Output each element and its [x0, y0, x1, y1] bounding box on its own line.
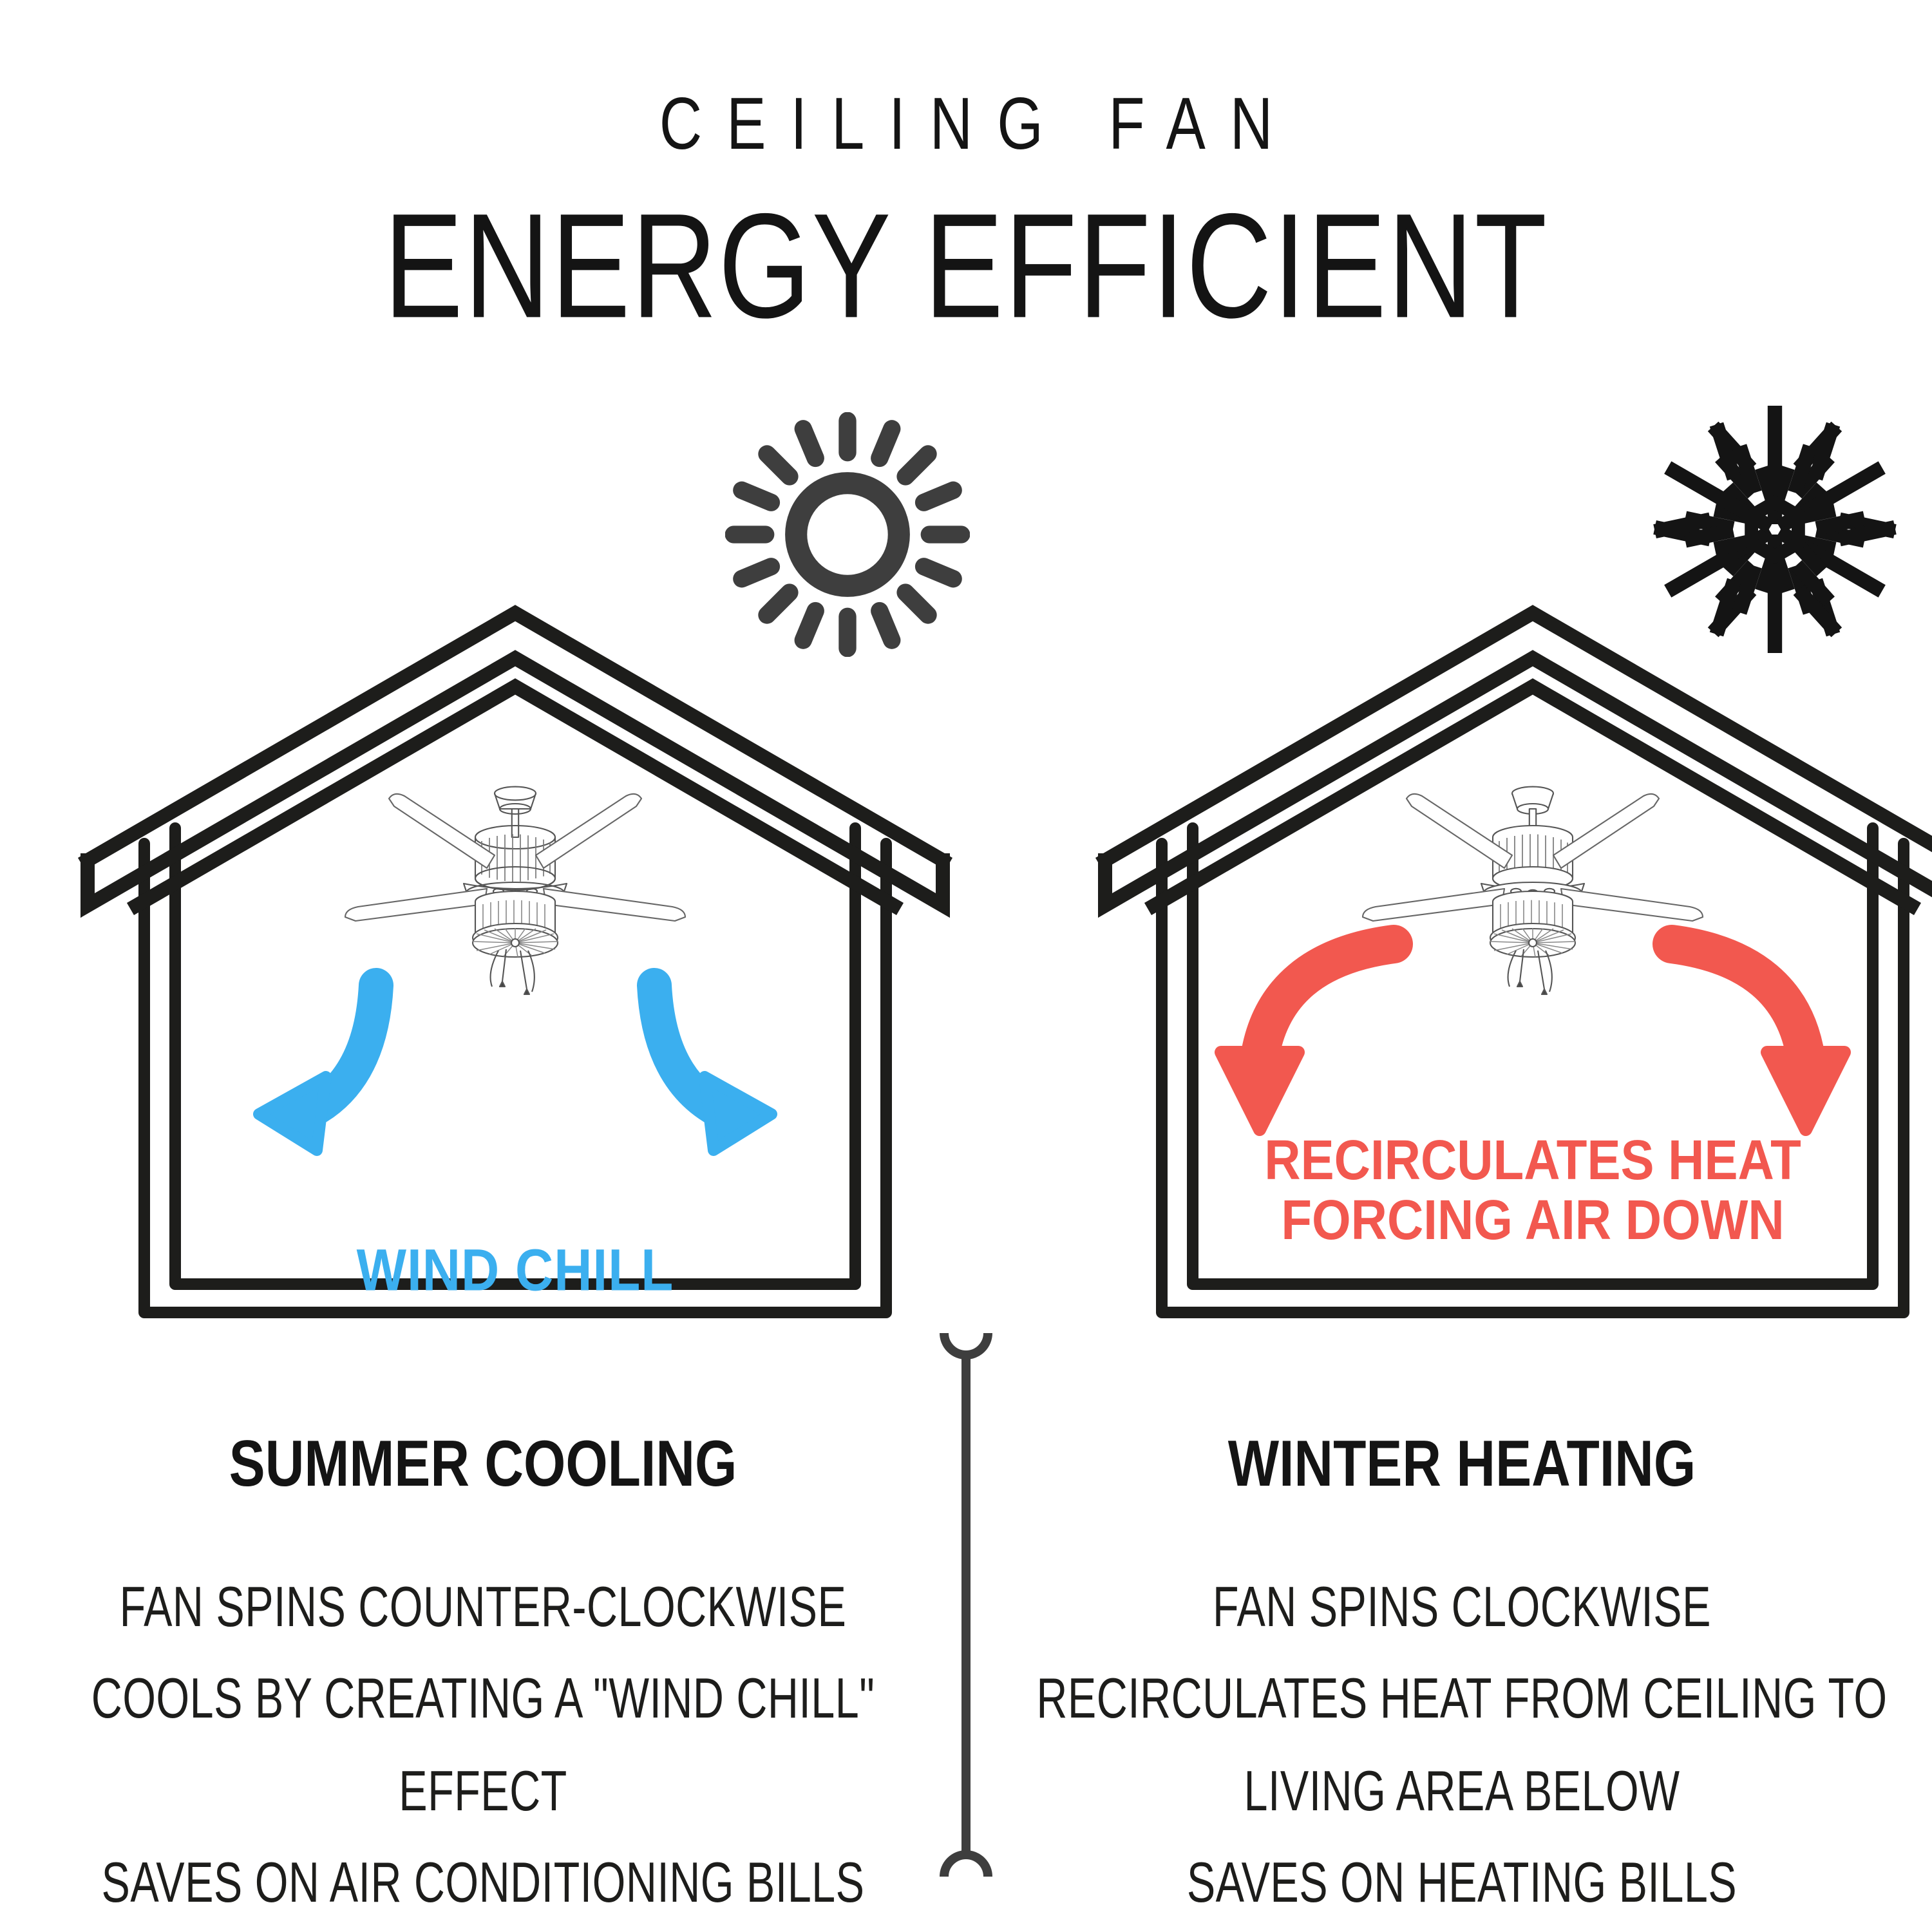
summer-title: SUMMER COOLING [26, 1431, 940, 1496]
winter-body: FAN SPINS CLOCKWISE RECIRCULATES HEAT FR… [1028, 1561, 1897, 1929]
summer-body: FAN SPINS COUNTER-CLOCKWISE COOLS BY CRE… [49, 1561, 918, 1929]
heat-arrow-left [1221, 944, 1394, 1130]
winter-title: WINTER HEATING [1005, 1431, 1919, 1496]
page-title: ENERGY EFFICIENT [58, 180, 1874, 352]
kicker-title: CEILING FAN [0, 82, 1932, 166]
heat-arrow-right [1672, 944, 1844, 1130]
wind-chill-label: WIND CHILL [77, 1240, 953, 1302]
column-winter: WINTER HEATING FAN SPINS CLOCKWISE RECIR… [1005, 1431, 1919, 1853]
airflow-arrow-right [654, 985, 772, 1150]
airflow-arrow-left [259, 985, 376, 1150]
vertical-divider [935, 1328, 997, 1882]
recirculates-heat-label: RECIRCULATES HEAT FORCING AIR DOWN [1095, 1130, 1932, 1249]
column-summer: SUMMER COOLING FAN SPINS COUNTER-CLOCKWI… [26, 1431, 940, 1853]
ceiling-fan-icon [1363, 787, 1703, 994]
infographic-canvas: CEILING FAN ENERGY EFFICIENT [0, 0, 1932, 1932]
ceiling-fan-icon [345, 787, 685, 994]
